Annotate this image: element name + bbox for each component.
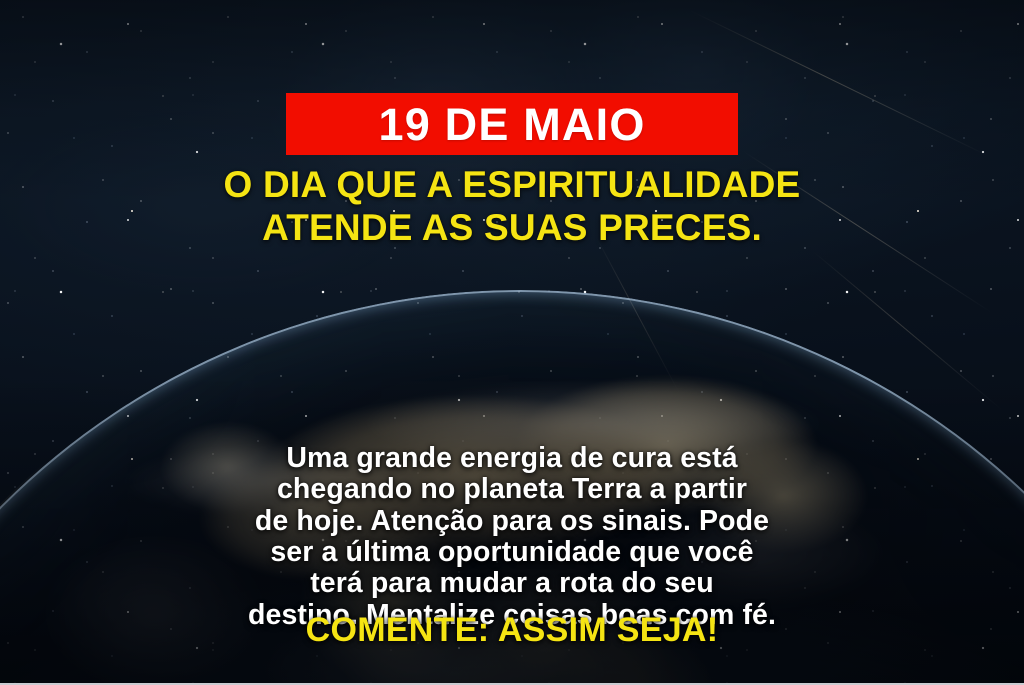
headline-line-2: ATENDE AS SUAS PRECES. xyxy=(56,206,968,249)
headline: O DIA QUE A ESPIRITUALIDADE ATENDE AS SU… xyxy=(0,163,1024,250)
poster-image: 19 DE MAIO O DIA QUE A ESPIRITUALIDADE A… xyxy=(0,0,1024,685)
body-line-4: ser a última oportunidade que você xyxy=(44,537,980,568)
headline-line-1: O DIA QUE A ESPIRITUALIDADE xyxy=(56,163,968,206)
call-to-action-text: COMENTE: ASSIM SEJA! xyxy=(0,613,1024,647)
body-line-2: chegando no planeta Terra a partir xyxy=(44,474,980,505)
body-line-3: de hoje. Atenção para os sinais. Pode xyxy=(44,506,980,537)
body-line-5: terá para mudar a rota do seu xyxy=(44,568,980,599)
poster-content: 19 DE MAIO O DIA QUE A ESPIRITUALIDADE A… xyxy=(0,0,1024,685)
date-banner: 19 DE MAIO xyxy=(286,93,738,155)
body-line-1: Uma grande energia de cura está xyxy=(44,443,980,474)
date-banner-text: 19 DE MAIO xyxy=(378,102,645,147)
body-paragraph: Uma grande energia de cura está chegando… xyxy=(0,443,1024,631)
